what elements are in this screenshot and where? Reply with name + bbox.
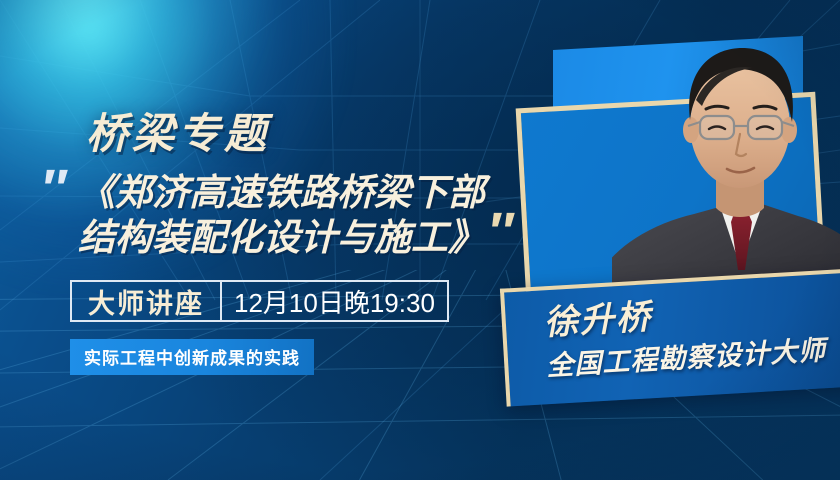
quote-open-icon: ″ <box>40 162 64 216</box>
subtitle-bar: 实际工程中创新成果的实践 <box>70 339 314 375</box>
page-title-line-2: 结构装配化设计与施工》 <box>78 215 498 260</box>
promo-poster: 徐升桥 全国工程勘察设计大师 桥梁专题 ″ ″ 《郑济高速铁路桥梁下部 结构装配… <box>0 0 840 480</box>
page-title: 《郑济高速铁路桥梁下部 结构装配化设计与施工》 <box>78 170 498 260</box>
page-title-line-1: 《郑济高速铁路桥梁下部 <box>78 170 498 215</box>
lecture-badge: 大师讲座 12月10日晚19:30 <box>70 280 449 322</box>
speaker-nameplate: 徐升桥 全国工程勘察设计大师 <box>500 267 840 406</box>
badge-label: 大师讲座 <box>72 282 220 320</box>
badge-datetime: 12月10日晚19:30 <box>222 282 447 320</box>
page-kicker: 桥梁专题 <box>86 100 270 161</box>
